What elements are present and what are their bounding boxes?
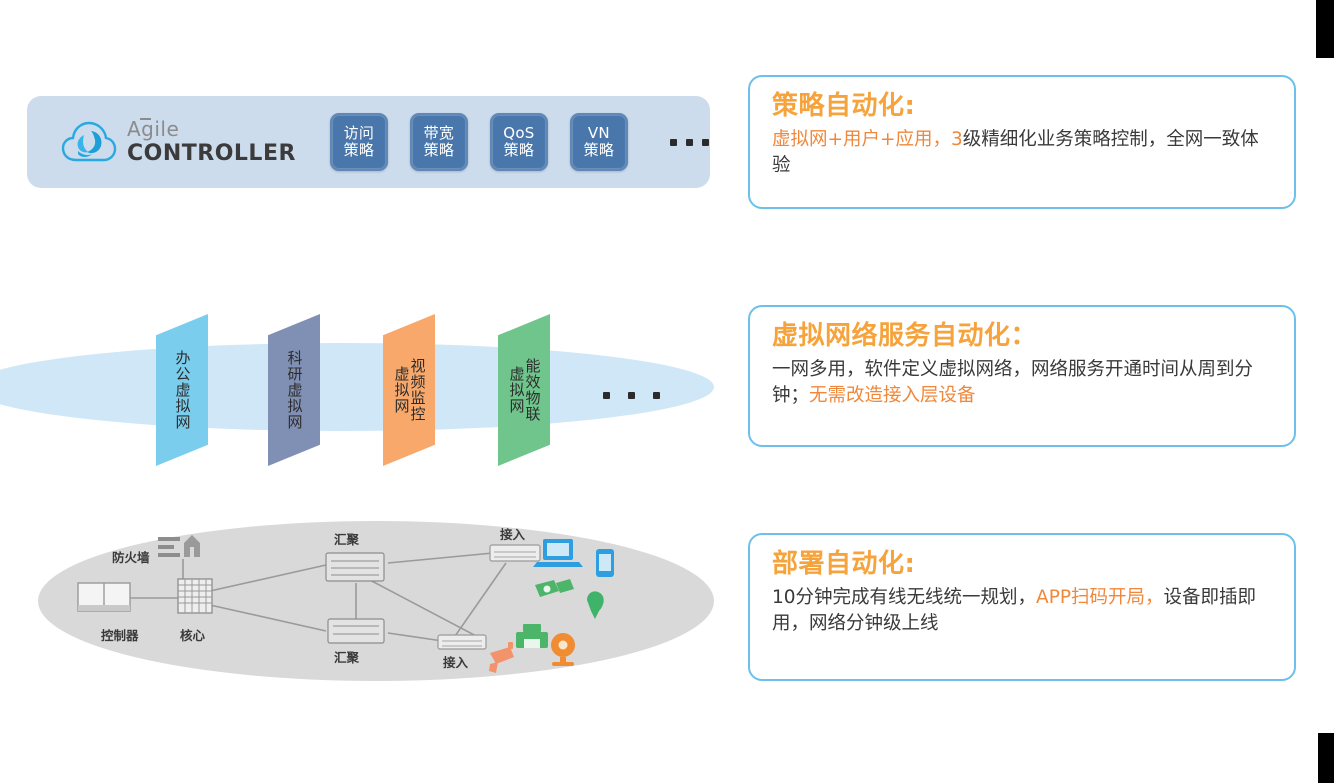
policy-label-line2: 策略 (344, 142, 375, 159)
vn-plane-label: 视频监控 (410, 358, 425, 422)
topology-label-firewall: 防火墙 (112, 547, 150, 566)
topology-label-aggregation-bottom: 汇聚 (334, 647, 359, 666)
vn-plane-energy-iot: 能效物联 虚拟网 (498, 314, 550, 466)
vn-plane-video-surveillance: 视频监控 虚拟网 (383, 314, 435, 466)
topology-label-core: 核心 (180, 625, 205, 644)
card-body: 虚拟网+用户+应用，3级精细化业务策略控制，全网一致体验 (772, 127, 1274, 180)
policy-label-line1: 访问 (344, 125, 375, 142)
topology-label-access-top: 接入 (500, 524, 525, 543)
access-switch-top-icon (490, 545, 540, 561)
webcam-icon (551, 633, 575, 666)
card-body-highlight: 虚拟网+用户+应用，3 (772, 129, 963, 150)
firewall-icon (158, 535, 200, 557)
vn-plane-sublabel: 虚拟网 (394, 366, 409, 414)
vn-plane-sublabel: 虚拟网 (509, 366, 524, 414)
card-body-highlight: 无需改造接入层设备 (809, 385, 976, 406)
logo-controller-text: CONTROLLER (127, 143, 296, 165)
agile-controller-logo: Agile CONTROLLER (61, 119, 296, 165)
edge-bar-top (1316, 0, 1334, 58)
topology-links-and-devices (38, 521, 714, 681)
card-title: 虚拟网络服务自动化： (772, 321, 1274, 353)
slide-canvas: Agile CONTROLLER 访问 策略 带宽 策略 QoS 策略 VN 策… (0, 0, 1334, 783)
cloud-swirl-icon (61, 119, 117, 165)
card-body: 一网多用，软件定义虚拟网络，网络服务开通时间从周到分钟；无需改造接入层设备 (772, 357, 1274, 410)
vn-plane-label: 科研虚拟网 (287, 350, 302, 430)
printer-icon (516, 624, 548, 648)
policy-label-line1: VN (588, 125, 610, 142)
lamp-icon (587, 591, 604, 619)
policy-label-line1: 带宽 (424, 125, 455, 142)
card-body-rest: 10分钟完成有线无线统一规划， (772, 587, 1036, 608)
logo-agile-text: Agile (127, 119, 179, 139)
security-camera-icon (489, 642, 514, 673)
policy-more-ellipsis-icon (670, 139, 709, 146)
policy-button-access[interactable]: 访问 策略 (330, 113, 388, 171)
vn-plane-office: 办公虚拟网 (156, 314, 208, 466)
vn-more-ellipsis-icon (603, 392, 660, 399)
policy-button-row: 访问 策略 带宽 策略 QoS 策略 VN 策略 (330, 113, 709, 171)
policy-label-line1: QoS (503, 125, 534, 142)
vn-plane-research: 科研虚拟网 (268, 314, 320, 466)
policy-label-line2: 策略 (584, 142, 615, 159)
policy-label-line2: 策略 (424, 142, 455, 159)
topology-label-aggregation-top: 汇聚 (334, 529, 359, 548)
card-body: 10分钟完成有线无线统一规划，APP扫码开局，设备即插即用，网络分钟级上线 (772, 585, 1274, 638)
controller-device-icon (78, 583, 130, 611)
card-title: 策略自动化: (772, 91, 1274, 123)
physical-network-ellipse (0, 343, 714, 431)
card-body-highlight: APP扫码开局， (1036, 587, 1163, 608)
vn-plane-label: 办公虚拟网 (175, 350, 190, 430)
card-title: 部署自动化: (772, 549, 1274, 581)
aggregation-switch-top-icon (326, 553, 384, 581)
access-switch-bottom-icon (438, 635, 486, 649)
video-device-icon (535, 579, 574, 597)
policy-automation-card: 策略自动化: 虚拟网+用户+应用，3级精细化业务策略控制，全网一致体验 (748, 75, 1296, 209)
policy-button-qos[interactable]: QoS 策略 (490, 113, 548, 171)
topology-label-controller: 控制器 (101, 625, 139, 644)
agile-controller-strip: Agile CONTROLLER 访问 策略 带宽 策略 QoS 策略 VN 策… (27, 96, 710, 188)
policy-label-line2: 策略 (504, 142, 535, 159)
smartphone-icon (596, 549, 614, 577)
core-switch-icon (178, 579, 212, 613)
policy-button-bandwidth[interactable]: 带宽 策略 (410, 113, 468, 171)
policy-button-vn[interactable]: VN 策略 (570, 113, 628, 171)
network-topology-diagram: 控制器 防火墙 核心 (38, 521, 714, 681)
virtual-network-service-automation-card: 虚拟网络服务自动化： 一网多用，软件定义虚拟网络，网络服务开通时间从周到分钟；无… (748, 305, 1296, 447)
vn-plane-label: 能效物联 (525, 358, 540, 422)
edge-bar-bottom (1318, 733, 1334, 783)
topology-label-access-bottom: 接入 (443, 652, 468, 671)
deployment-automation-card: 部署自动化: 10分钟完成有线无线统一规划，APP扫码开局，设备即插即用，网络分… (748, 533, 1296, 681)
aggregation-switch-bottom-icon (328, 619, 384, 643)
